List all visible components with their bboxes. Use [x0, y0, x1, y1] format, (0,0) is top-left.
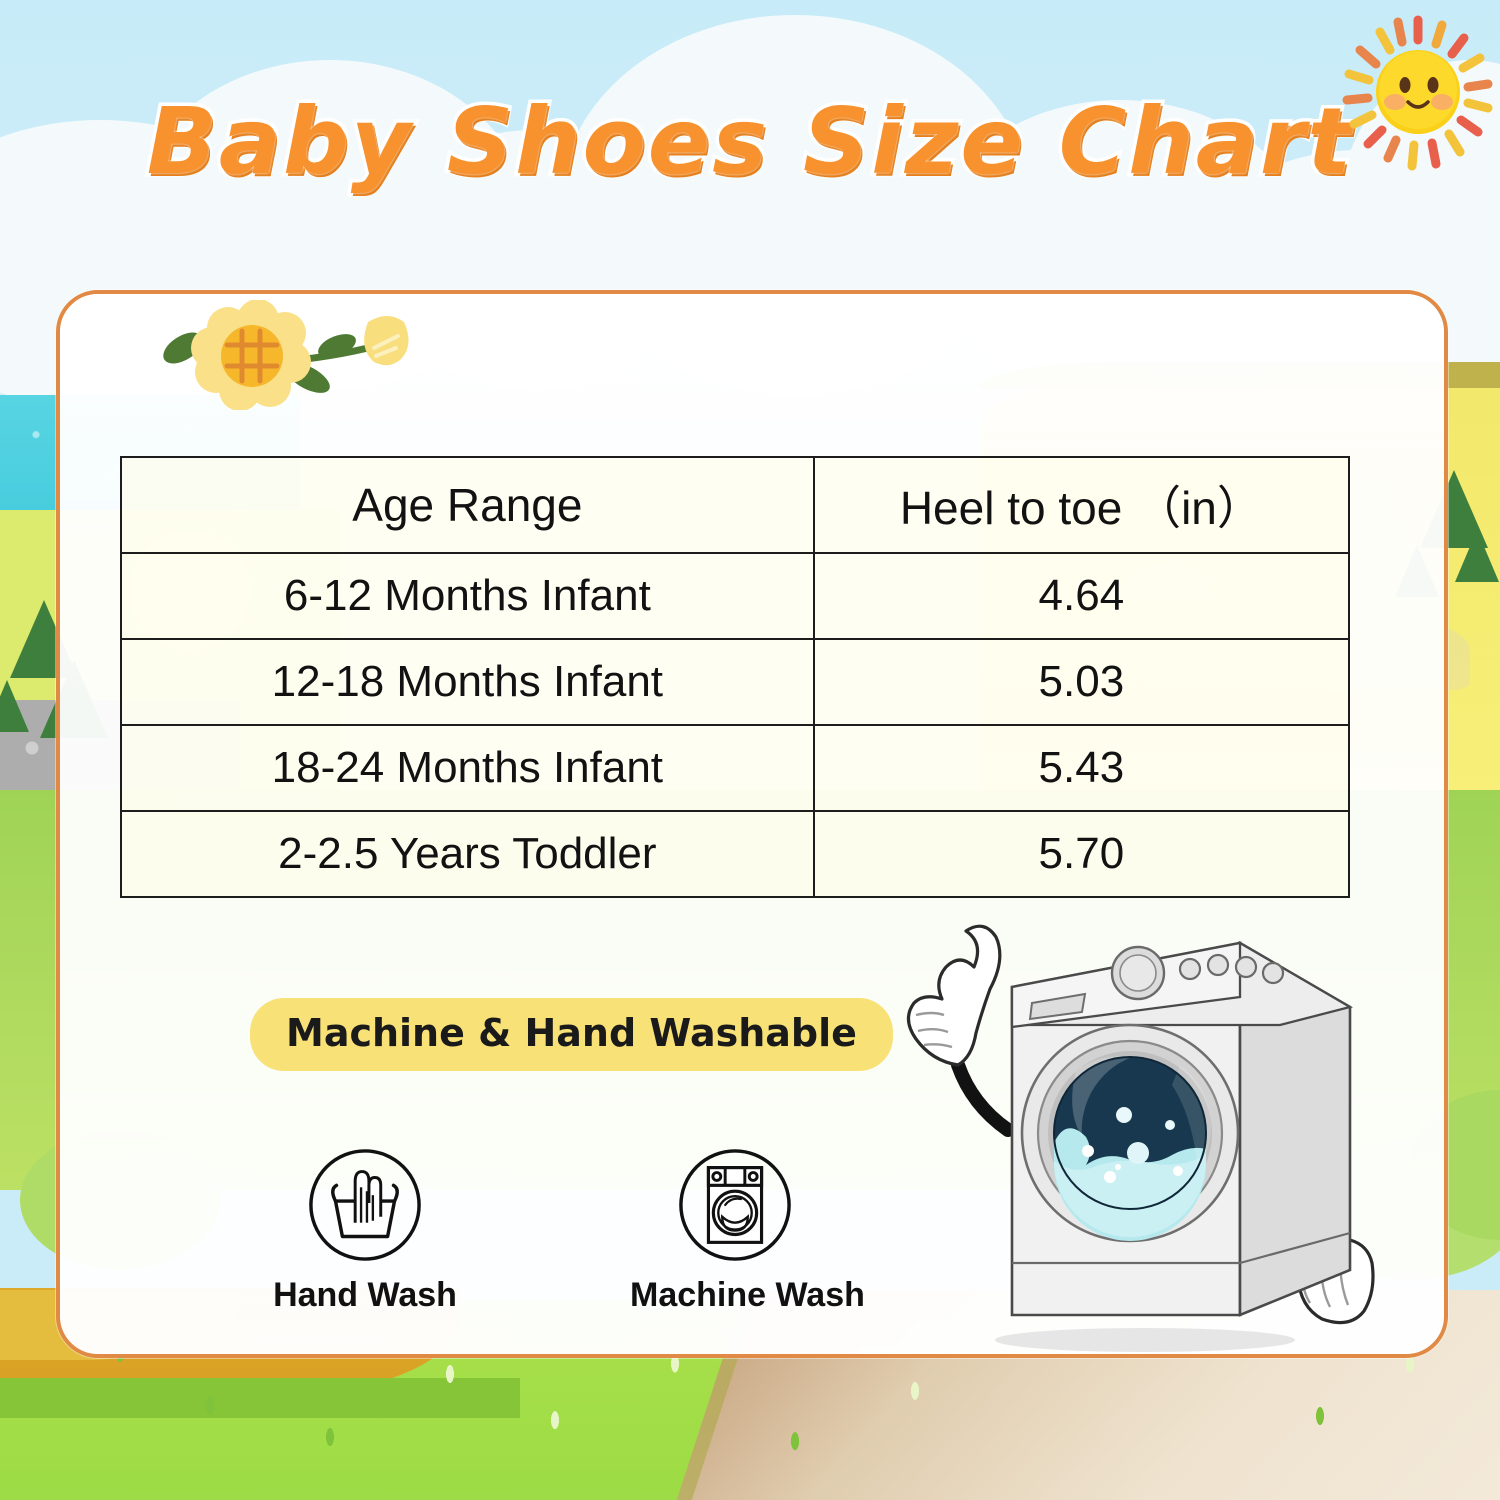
washable-badge: Machine & Hand Washable [250, 998, 893, 1071]
care-icons-group: Hand Wash [260, 1142, 840, 1315]
care-label: Machine Wash [630, 1276, 840, 1315]
poster-canvas: Baby Shoes Size Chart [0, 0, 1500, 1500]
cell-heel-to-toe: 4.64 [814, 553, 1349, 639]
table-row: 6-12 Months Infant 4.64 [121, 553, 1349, 639]
care-item-hand-wash: Hand Wash [260, 1142, 470, 1315]
smiling-sun-icon [1338, 12, 1498, 172]
cell-age-range: 6-12 Months Infant [121, 553, 814, 639]
size-chart-table: Age Range Heel to toe （in） 6-12 Months I… [120, 456, 1350, 898]
cell-heel-to-toe: 5.70 [814, 811, 1349, 897]
table-row: 12-18 Months Infant 5.03 [121, 639, 1349, 725]
washing-machine-mascot-icon [880, 915, 1400, 1355]
pine-tree-icon [1455, 530, 1499, 582]
cell-age-range: 18-24 Months Infant [121, 725, 814, 811]
table-row: 18-24 Months Infant 5.43 [121, 725, 1349, 811]
cell-age-range: 12-18 Months Infant [121, 639, 814, 725]
care-item-machine-wash: Machine Wash [630, 1142, 840, 1315]
table-body: Age Range Heel to toe （in） 6-12 Months I… [121, 457, 1349, 897]
header-age-range: Age Range [121, 457, 814, 553]
table-header-row: Age Range Heel to toe （in） [121, 457, 1349, 553]
page-title: Baby Shoes Size Chart [0, 88, 1500, 195]
cell-heel-to-toe: 5.43 [814, 725, 1349, 811]
sunflower-tulip-icon [130, 300, 430, 410]
cell-heel-to-toe: 5.03 [814, 639, 1349, 725]
machine-wash-icon [630, 1142, 840, 1268]
table-row: 2-2.5 Years Toddler 5.70 [121, 811, 1349, 897]
header-heel-to-toe: Heel to toe （in） [814, 457, 1349, 553]
pine-tree-icon [0, 680, 29, 732]
hand-wash-icon [260, 1142, 470, 1268]
cell-age-range: 2-2.5 Years Toddler [121, 811, 814, 897]
care-label: Hand Wash [260, 1276, 470, 1315]
